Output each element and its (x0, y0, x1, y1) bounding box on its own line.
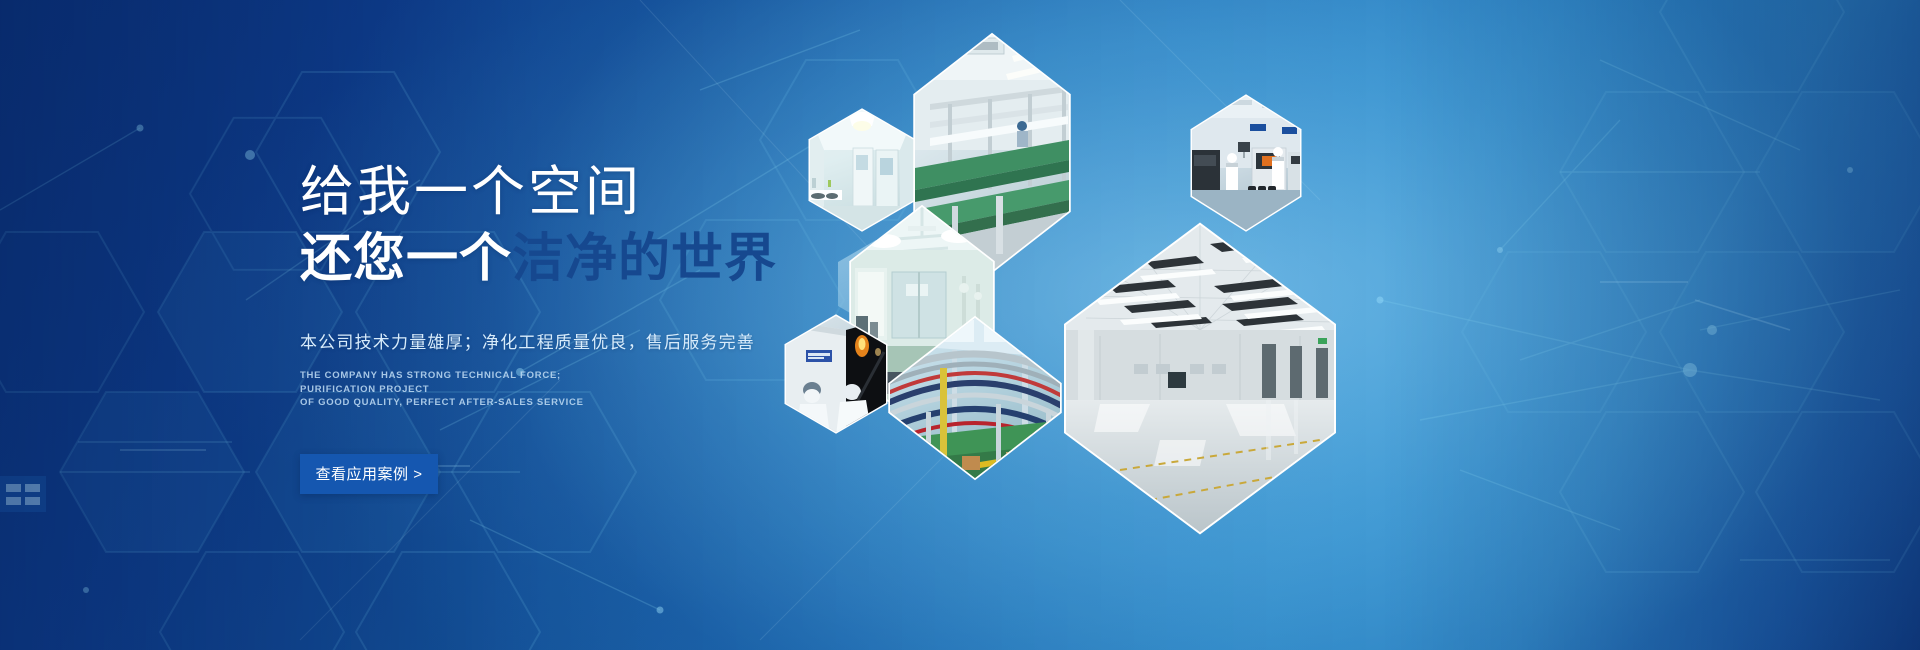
hex-tile-smt-production-line (1188, 92, 1304, 234)
headline-line-2: 还您一个洁净的世界 (300, 228, 820, 290)
headline-line-2-white: 还您一个 (300, 230, 512, 288)
hero-banner: 给我一个空间 还您一个洁净的世界 本公司技术力量雄厚；净化工程质量优良，售后服务… (0, 0, 1920, 650)
banner-subtitle: 本公司技术力量雄厚；净化工程质量优良，售后服务完善 (300, 330, 820, 356)
headline-line-2-blue: 洁净的世界 (512, 230, 777, 288)
english-line-1: THE COMPANY HAS STRONG TECHNICAL FORCE; … (300, 369, 610, 396)
banner-copy: 给我一个空间 还您一个洁净的世界 本公司技术力量雄厚；净化工程质量优良，售后服务… (300, 160, 820, 494)
hex-tile-cleanroom-corridor (806, 106, 918, 234)
hex-tile-cleanroom-hall (1062, 221, 1338, 536)
headline-line-1: 给我一个空间 (300, 160, 820, 224)
english-line-2: OF GOOD QUALITY, PERFECT AFTER-SALES SER… (300, 396, 610, 410)
banner-english-text: THE COMPANY HAS STRONG TECHNICAL FORCE; … (300, 369, 610, 410)
hexagon-image-cluster (0, 0, 1920, 650)
view-cases-button[interactable]: 查看应用案例 > (300, 454, 438, 494)
